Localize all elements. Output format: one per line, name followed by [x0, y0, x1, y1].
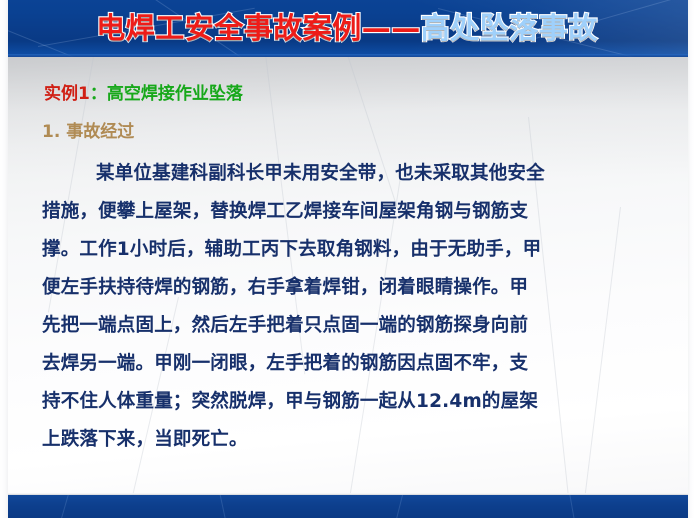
section-heading: 1. 事故经过	[42, 117, 134, 142]
decorative-line	[59, 495, 71, 518]
slide-title-text: 电焊工安全事故案例——高处坠落事故	[96, 14, 598, 43]
narrative-line: 先把一端点固上，然后左手把着只点固一端的钢筋探身向前	[42, 307, 672, 345]
narrative-line: 某单位基建科副科长甲未用安全带，也未采取其他安全	[42, 155, 672, 193]
narrative-line: 上跌落下来，当即死亡。	[42, 421, 672, 459]
decorative-line	[568, 495, 576, 518]
narrative-line: 措施，便攀上屋架，替换焊工乙焊接车间屋架角钢与钢筋支	[42, 193, 672, 231]
example-heading-label: 实例1	[44, 84, 90, 104]
narrative-line: 持不住人体重量；突然脱焊，甲与钢筋一起从12.4m的屋架	[42, 383, 672, 421]
narrative-line-text: 某单位基建科副科长甲未用安全带，也未采取其他安全	[96, 163, 545, 184]
slide-body: 实例1：高空焊接作业坠落 1. 事故经过 某单位基建科副科长甲未用安全带，也未采…	[8, 57, 694, 495]
slide-title: 电焊工安全事故案例——高处坠落事故	[0, 0, 694, 57]
narrative-line: 去焊另一端。甲刚一闭眼，左手把着的钢筋因点固不牢，支	[42, 345, 672, 383]
narrative-line: 撑。工作1小时后，辅助工丙下去取角钢料，由于无助手，甲	[42, 231, 672, 269]
example-heading-title: ：高空焊接作业坠落	[90, 84, 243, 104]
decorative-line	[394, 495, 405, 518]
accident-narrative: 某单位基建科副科长甲未用安全带，也未采取其他安全 措施，便攀上屋架，替换焊工乙焊…	[42, 155, 672, 459]
slide-title-dash: ——	[362, 11, 421, 45]
slide-footer-bar	[8, 495, 694, 518]
example-heading: 实例1：高空焊接作业坠落	[44, 79, 243, 104]
narrative-line: 便左手扶持待焊的钢筋，右手拿着焊钳，闭着眼睛操作。甲	[42, 269, 672, 307]
slide-title-secondary: 高处坠落事故	[421, 11, 598, 45]
slide-canvas: 电焊工安全事故案例——高处坠落事故 实例1：高空焊接作业坠落 1. 事故经过 某…	[0, 0, 694, 518]
slide-left-margin	[0, 0, 8, 518]
slide-right-margin	[688, 0, 694, 518]
footer-separator	[8, 493, 694, 495]
slide-title-primary: 电焊工安全事故案例	[96, 11, 362, 45]
decorative-line	[218, 495, 227, 518]
